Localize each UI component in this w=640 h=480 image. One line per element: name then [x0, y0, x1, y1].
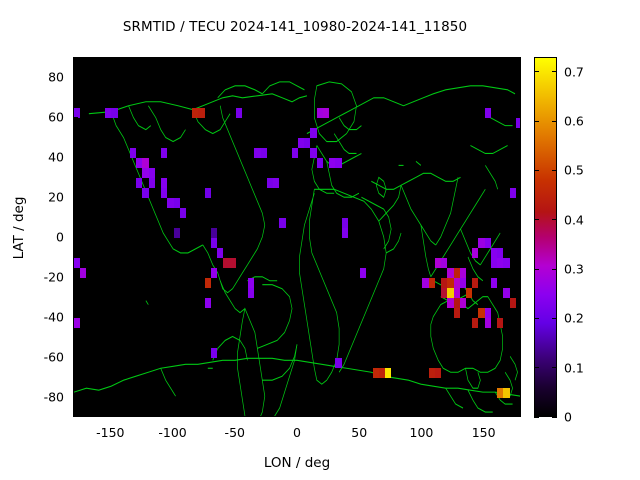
- data-cell: [385, 368, 391, 378]
- data-cell: [236, 108, 242, 118]
- x-axis-tick: [234, 57, 235, 62]
- data-cell: [217, 248, 223, 258]
- data-cell: [485, 308, 491, 318]
- data-cell: [161, 178, 167, 188]
- data-cell: [510, 298, 516, 308]
- data-cell: [472, 278, 478, 288]
- x-axis-tick: [110, 412, 111, 417]
- data-cell: [510, 188, 516, 198]
- y-axis-tick: [73, 277, 78, 278]
- data-cell: [503, 258, 509, 268]
- data-cell: [497, 248, 503, 258]
- data-cell: [149, 168, 155, 178]
- data-cell: [503, 388, 509, 398]
- data-cell: [503, 288, 509, 298]
- data-cell: [130, 148, 136, 158]
- x-axis-title: LON / deg: [73, 455, 521, 471]
- colorbar-tick: [534, 269, 539, 270]
- data-cell: [342, 218, 348, 228]
- colorbar-tick-label: 0.7: [564, 64, 584, 79]
- data-cell: [310, 128, 316, 138]
- x-axis-tick-label: 150: [472, 425, 496, 440]
- y-axis-tick: [73, 317, 78, 318]
- data-cell: [205, 298, 211, 308]
- data-cell: [454, 288, 460, 298]
- x-axis-tick: [421, 57, 422, 62]
- y-axis-tick-label: -60: [0, 350, 64, 365]
- data-cell: [491, 278, 497, 288]
- data-cell: [174, 228, 180, 238]
- data-cell: [248, 288, 254, 298]
- colorbar-tick-label: 0: [564, 410, 572, 425]
- data-cell: [149, 178, 155, 188]
- chart-title: SRMTID / TECU 2024-141_10980-2024-141_11…: [0, 19, 590, 35]
- colorbar-tick: [552, 318, 557, 319]
- data-cell: [472, 248, 478, 258]
- x-axis-tick: [110, 57, 111, 62]
- data-cell: [435, 368, 441, 378]
- colorbar-tick-label: 0.3: [564, 262, 584, 277]
- data-cell: [360, 268, 366, 278]
- x-axis-tick-label: 0: [293, 425, 301, 440]
- colorbar-tick: [552, 417, 557, 418]
- data-cell: [323, 108, 329, 118]
- colorbar-tick: [534, 71, 539, 72]
- y-axis-tick: [516, 197, 521, 198]
- data-cell: [335, 158, 341, 168]
- y-axis-tick: [73, 197, 78, 198]
- y-axis-tick-label: 20: [0, 190, 64, 205]
- x-axis-tick: [172, 57, 173, 62]
- x-axis-tick: [297, 57, 298, 62]
- x-axis-tick: [483, 57, 484, 62]
- y-axis-tick: [516, 77, 521, 78]
- data-cell: [273, 178, 279, 188]
- colorbar-gradient: [535, 58, 556, 416]
- y-axis-tick: [73, 237, 78, 238]
- y-axis-tick: [73, 77, 78, 78]
- data-cell: [211, 228, 217, 238]
- y-axis-tick-label: 40: [0, 150, 64, 165]
- y-axis-tick-label: -80: [0, 390, 64, 405]
- y-axis-tick: [73, 357, 78, 358]
- data-cell: [161, 188, 167, 198]
- data-cell: [230, 258, 236, 268]
- data-cell: [292, 148, 298, 158]
- colorbar-tick: [534, 417, 539, 418]
- data-cell: [211, 348, 217, 358]
- data-cell: [335, 358, 341, 368]
- colorbar[interactable]: [534, 57, 557, 417]
- colorbar-tick: [534, 170, 539, 171]
- data-cell: [460, 278, 466, 288]
- x-axis-tick: [359, 57, 360, 62]
- y-axis-tick: [516, 117, 521, 118]
- data-cell: [497, 318, 503, 328]
- colorbar-tick-label: 0.6: [564, 114, 584, 129]
- data-cell: [460, 268, 466, 278]
- data-cell: [472, 318, 478, 328]
- y-axis-tick: [516, 237, 521, 238]
- y-axis-tick-label: 60: [0, 110, 64, 125]
- data-cell: [429, 278, 435, 288]
- colorbar-tick: [534, 219, 539, 220]
- colorbar-tick: [552, 219, 557, 220]
- x-axis-tick: [359, 412, 360, 417]
- y-axis-tick: [516, 357, 521, 358]
- y-axis-tick-label: 80: [0, 70, 64, 85]
- colorbar-tick: [552, 121, 557, 122]
- y-axis-tick: [73, 157, 78, 158]
- data-cell: [111, 108, 117, 118]
- y-axis-tick: [516, 397, 521, 398]
- data-cell: [198, 108, 204, 118]
- x-axis-tick-label: -50: [225, 425, 245, 440]
- y-axis-tick: [73, 397, 78, 398]
- data-cell: [211, 268, 217, 278]
- colorbar-tick-label: 0.2: [564, 311, 584, 326]
- y-axis-tick: [516, 277, 521, 278]
- y-axis-tick-label: 0: [0, 230, 64, 245]
- data-cell: [142, 188, 148, 198]
- data-cell: [304, 138, 310, 148]
- colorbar-tick: [552, 71, 557, 72]
- y-axis-tick: [516, 157, 521, 158]
- x-axis-tick: [172, 412, 173, 417]
- data-cell: [485, 318, 491, 328]
- data-cell: [205, 278, 211, 288]
- data-cell: [342, 228, 348, 238]
- data-cell: [485, 238, 491, 248]
- data-cell: [460, 298, 466, 308]
- x-axis-tick-label: -150: [96, 425, 124, 440]
- data-cell: [466, 288, 472, 298]
- data-cell-layer: [74, 58, 520, 416]
- data-cell: [441, 258, 447, 268]
- data-cell: [516, 118, 521, 128]
- data-cell: [180, 208, 186, 218]
- colorbar-tick-label: 0.1: [564, 360, 584, 375]
- x-axis-tick-label: -100: [158, 425, 186, 440]
- colorbar-tick-label: 0.4: [564, 212, 584, 227]
- data-cell: [454, 308, 460, 318]
- y-axis-tick-label: -20: [0, 270, 64, 285]
- y-axis-tick: [516, 317, 521, 318]
- x-axis-tick-label: 50: [351, 425, 367, 440]
- x-axis-tick: [234, 412, 235, 417]
- data-cell: [205, 188, 211, 198]
- data-cell: [74, 258, 80, 268]
- colorbar-tick: [534, 121, 539, 122]
- figure-canvas: SRMTID / TECU 2024-141_10980-2024-141_11…: [0, 0, 640, 480]
- x-axis-tick: [297, 412, 298, 417]
- colorbar-tick: [534, 367, 539, 368]
- colorbar-tick: [552, 367, 557, 368]
- data-cell: [161, 148, 167, 158]
- data-cell: [174, 198, 180, 208]
- x-axis-tick: [483, 412, 484, 417]
- map-plot-area[interactable]: [73, 57, 521, 417]
- data-cell: [261, 148, 267, 158]
- data-cell: [317, 158, 323, 168]
- x-axis-tick: [421, 412, 422, 417]
- data-cell: [74, 318, 80, 328]
- data-cell: [279, 218, 285, 228]
- y-axis-tick: [73, 117, 78, 118]
- data-cell: [310, 148, 316, 158]
- colorbar-tick: [552, 170, 557, 171]
- data-cell: [136, 178, 142, 188]
- y-axis-tick-label: -40: [0, 310, 64, 325]
- data-cell: [211, 238, 217, 248]
- colorbar-tick: [534, 318, 539, 319]
- data-cell: [80, 268, 86, 278]
- data-cell: [248, 278, 254, 288]
- data-cell: [485, 108, 491, 118]
- x-axis-tick-label: 100: [410, 425, 434, 440]
- colorbar-tick-label: 0.5: [564, 163, 584, 178]
- colorbar-tick: [552, 269, 557, 270]
- data-cell: [142, 158, 148, 168]
- y-axis-title: LAT / deg: [11, 178, 27, 278]
